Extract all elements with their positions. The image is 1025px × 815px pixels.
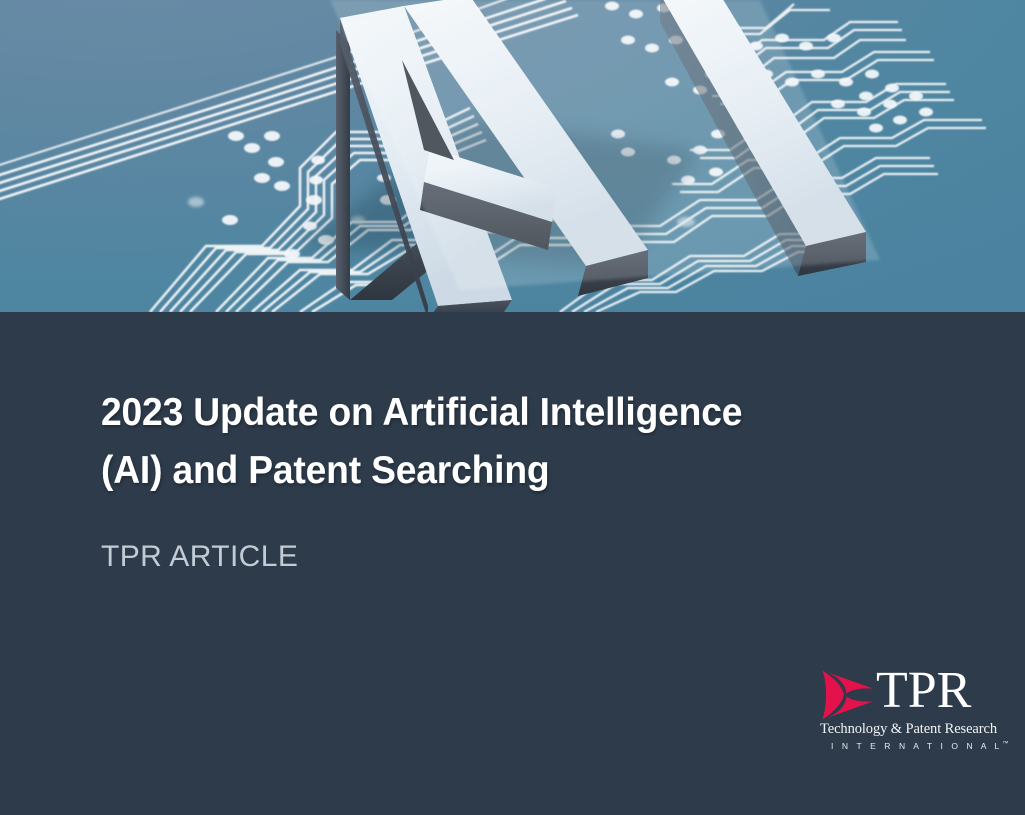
logo-primary-row: TPR bbox=[818, 665, 968, 723]
page-title: 2023 Update on Artificial Intelligence (… bbox=[101, 384, 855, 500]
hero-image bbox=[0, 0, 1025, 312]
logo-subtagline: I N T E R N A T I O N A L™ bbox=[831, 739, 971, 752]
tpr-wordmark: TPR bbox=[876, 663, 971, 719]
trademark-symbol: ™ bbox=[1002, 741, 1008, 747]
tpr-logo: TPR Technology & Patent Research I N T E… bbox=[818, 665, 968, 765]
logo-subtagline-text: I N T E R N A T I O N A L bbox=[831, 741, 1002, 751]
content-type-label: TPR ARTICLE bbox=[101, 540, 298, 574]
title-panel: 2023 Update on Artificial Intelligence (… bbox=[0, 312, 1025, 815]
hero-circuit-illustration bbox=[0, 0, 1025, 312]
article-cover-page: 2023 Update on Artificial Intelligence (… bbox=[0, 0, 1025, 815]
logo-tagline: Technology & Patent Research bbox=[820, 721, 968, 738]
tpr-pinwheel-arrow-icon bbox=[820, 669, 876, 721]
